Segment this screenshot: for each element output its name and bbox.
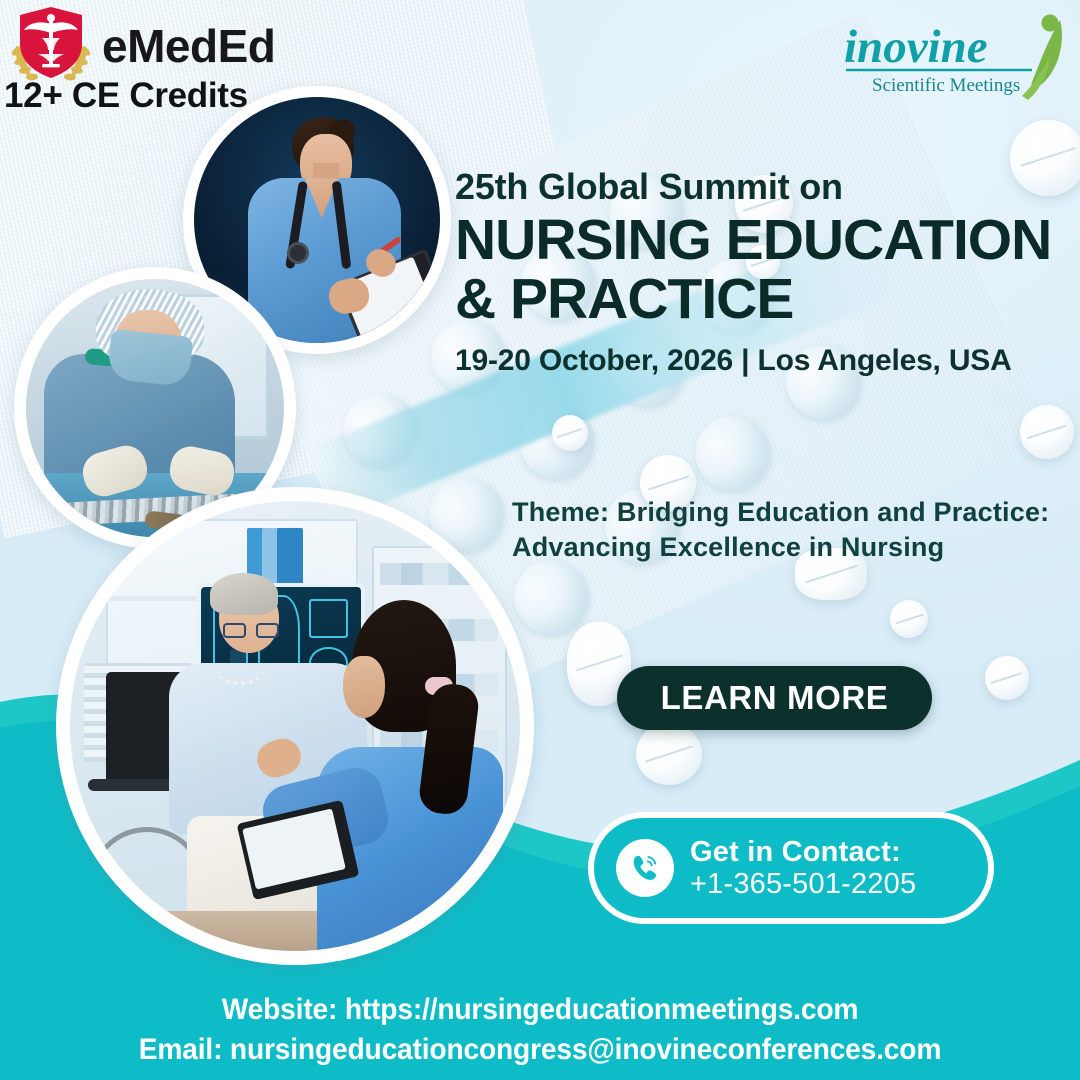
ce-credits-badge: 12+ CE Credits — [4, 76, 248, 116]
event-theme: Theme: Bridging Education and Practice: … — [512, 495, 1072, 564]
contact-label: Get in Contact: — [690, 836, 916, 868]
event-title-line-2: & PRACTICE — [455, 270, 1063, 329]
event-pre-title: 25th Global Summit on — [455, 168, 1063, 207]
event-theme-line-1: Theme: Bridging Education and Practice: — [512, 495, 1072, 530]
footer-contact-block: Website: https://nursingeducationmeeting… — [0, 990, 1080, 1070]
contact-pill[interactable]: Get in Contact: +1-365-501-2205 — [588, 812, 994, 924]
running-person-icon — [1022, 15, 1062, 101]
contact-text: Get in Contact: +1-365-501-2205 — [690, 836, 916, 901]
event-theme-line-2: Advancing Excellence in Nursing — [512, 530, 1072, 565]
inovine-logo: inovine Scientific Meetings — [836, 12, 1066, 106]
footer-website[interactable]: Website: https://nursingeducationmeeting… — [32, 990, 1047, 1030]
conference-poster: eMedEd 12+ CE Credits inovine Scientific… — [0, 0, 1080, 1080]
learn-more-button[interactable]: LEARN MORE — [617, 666, 932, 730]
contact-phone-number[interactable]: +1-365-501-2205 — [690, 868, 916, 900]
event-title-line-1: NURSING EDUCATION — [455, 211, 1063, 270]
phone-call-icon — [616, 839, 674, 897]
event-title-block: 25th Global Summit on NURSING EDUCATION … — [455, 168, 1063, 378]
svg-text:Scientific Meetings: Scientific Meetings — [872, 75, 1020, 96]
tablet-decor — [1020, 405, 1074, 459]
footer-email[interactable]: Email: nursingeducationcongress@inovinec… — [32, 1030, 1047, 1070]
tablet-decor — [552, 415, 588, 451]
event-date-location: 19-20 October, 2026 | Los Angeles, USA — [455, 344, 1063, 378]
emeded-wordmark: eMedEd — [102, 23, 275, 69]
nurse-consulting-patient-photo — [56, 487, 534, 965]
svg-text:inovine: inovine — [844, 21, 988, 73]
